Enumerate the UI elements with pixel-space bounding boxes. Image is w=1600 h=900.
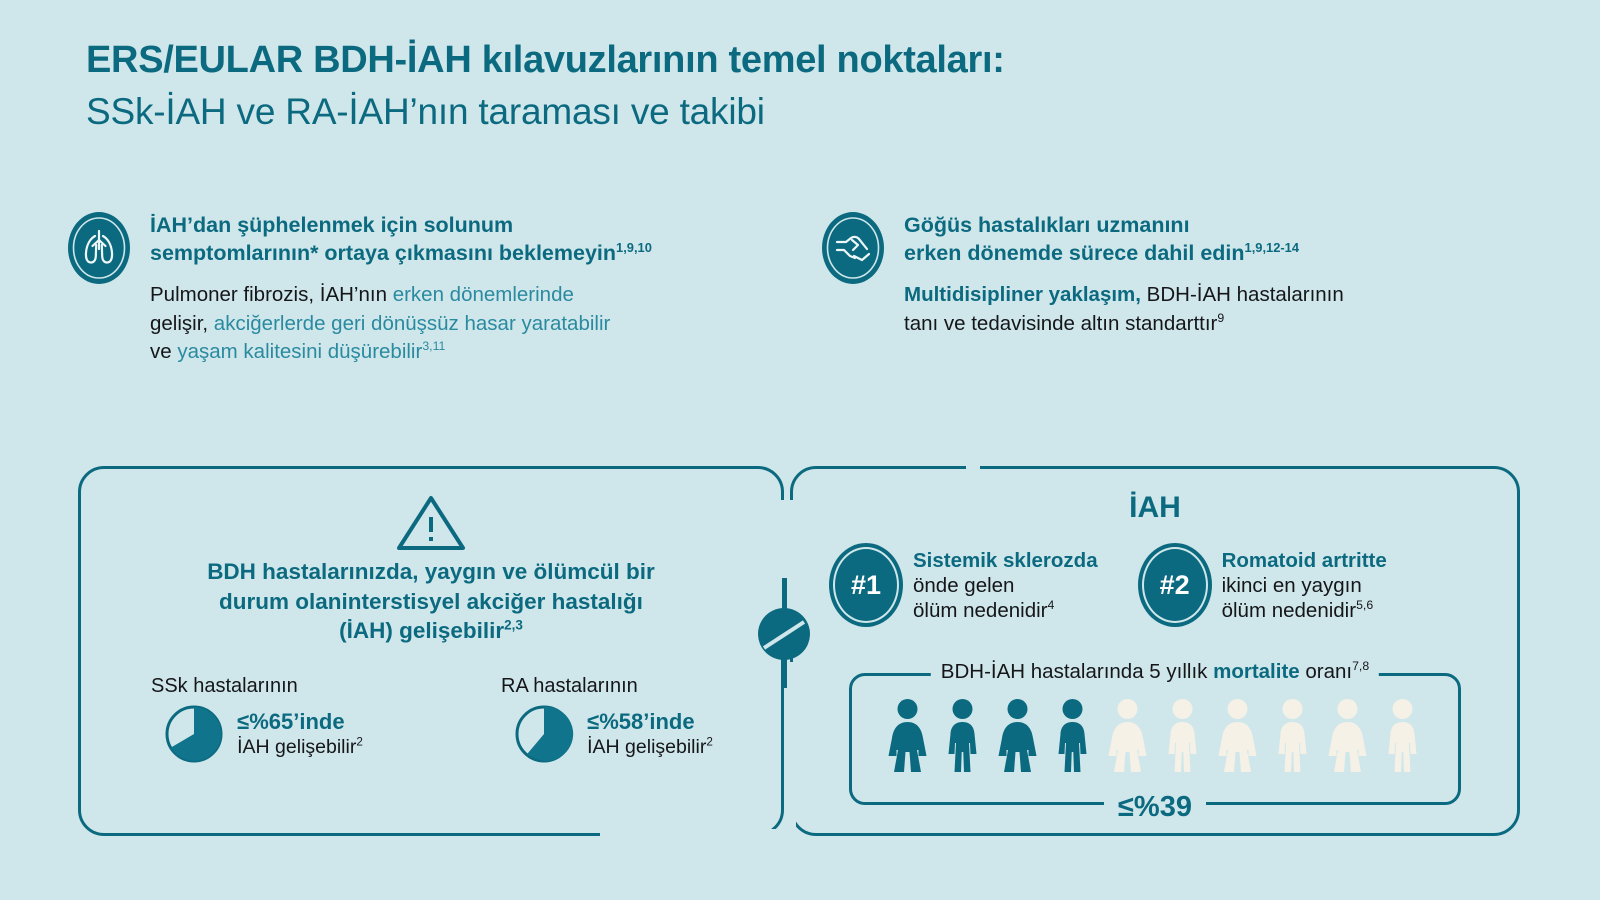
infographic-canvas: ERS/EULAR BDH-İAH kılavuzlarının temel n… xyxy=(0,0,1600,900)
pie-sub-text: İAH gelişebilir xyxy=(237,736,356,758)
rank-refs: 4 xyxy=(1047,598,1054,612)
pie-chart-ra: RA hastalarının ≤%58’inde İAH gelişebili… xyxy=(431,675,781,765)
rank-refs: 5,6 xyxy=(1356,598,1373,612)
warning-triangle-icon xyxy=(394,491,468,560)
rank-line-3-text: ölüm nedenidir xyxy=(1222,599,1356,622)
info-body-part-4: akciğerlerde geri dönüşsüz hasar yaratab… xyxy=(208,312,610,335)
headline-line-2: durum olaninterstisyel akciğer hastalığı xyxy=(219,589,643,614)
info-heading-line-2: erken dönemde sürece dahil edin xyxy=(904,241,1245,265)
title-line-1: ERS/EULAR BDH-İAH kılavuzlarının temel n… xyxy=(86,38,1005,83)
connector-slash-icon xyxy=(758,608,810,660)
info-body-refs: 3,11 xyxy=(422,339,445,353)
rank-line-2: önde gelen xyxy=(913,573,1098,598)
info-block-specialist: Göğüs hastalıkları uzmanını erken dönemd… xyxy=(822,212,1462,338)
info-body-part-3: tanı ve tedavisinde altın standarttır xyxy=(904,312,1217,335)
rank-line-2: ikinci en yaygın xyxy=(1222,573,1387,598)
person-male-icon xyxy=(1050,698,1096,774)
pie-percent-label: ≤%65’inde xyxy=(237,709,363,736)
info-body-part-1: Pulmoner fibrozis, İAH’nın xyxy=(150,283,393,306)
title-line-2: SSk-İAH ve RA-İAH’nın taraması ve takibi xyxy=(86,89,1005,135)
person-male-icon xyxy=(940,698,986,774)
rank-badge: #2 xyxy=(1142,547,1208,623)
info-heading-refs: 1,9,12-14 xyxy=(1245,240,1299,255)
info-body-part-1: Multidisipliner yaklaşım, xyxy=(904,283,1141,306)
info-body: Pulmoner fibrozis, İAH’nın erken dönemle… xyxy=(150,281,808,367)
lungs-icon xyxy=(68,212,130,284)
pie-sub-refs: 2 xyxy=(356,735,363,748)
rank-line-3: ölüm nedenidir4 xyxy=(913,598,1098,623)
headline-line-3: (İAH) gelişebilir xyxy=(339,618,504,643)
mortality-box: BDH-İAH hastalarında 5 yıllık mortalite … xyxy=(849,673,1461,805)
pie-chart-ssk: SSk hastalarının ≤%65’inde İAH gelişebil… xyxy=(81,675,431,765)
pictogram-people xyxy=(885,698,1426,774)
rank-item-2: #2 Romatoid artritte ikinci en yaygın öl… xyxy=(1142,547,1387,623)
person-female-icon xyxy=(1325,698,1371,774)
border-gap-right-lower xyxy=(786,662,796,834)
mortality-label: BDH-İAH hastalarında 5 yıllık mortalite … xyxy=(931,660,1379,684)
rank-line-1: Romatoid artritte xyxy=(1222,548,1387,573)
pie-sub-label: İAH gelişebilir2 xyxy=(237,736,363,760)
mortality-label-highlight: mortalite xyxy=(1213,660,1300,683)
pie-chart-group: SSk hastalarının ≤%65’inde İAH gelişebil… xyxy=(81,675,781,765)
rank-item-1: #1 Sistemik sklerozda önde gelen ölüm ne… xyxy=(833,547,1098,623)
handshake-icon xyxy=(822,212,884,284)
border-gap-right-top xyxy=(966,461,980,471)
rank-line-1: Sistemik sklerozda xyxy=(913,548,1098,573)
info-body-refs: 9 xyxy=(1217,311,1224,325)
info-block-symptoms: İAH’dan şüphelenmek için solunum semptom… xyxy=(68,212,808,367)
info-heading: İAH’dan şüphelenmek için solunum semptom… xyxy=(150,212,808,268)
info-heading-line-2: semptomlarının* ortaya çıkmasını bekleme… xyxy=(150,241,616,265)
pie-sub-refs: 2 xyxy=(706,735,713,748)
mortality-label-part-1: BDH-İAH hastalarında 5 yıllık xyxy=(941,660,1213,683)
info-body-part-5: ve xyxy=(150,340,177,363)
person-male-icon xyxy=(1160,698,1206,774)
pie-caption: SSk hastalarının xyxy=(151,675,298,698)
info-body-part-2: erken dönemlerinde xyxy=(393,283,574,306)
person-female-icon xyxy=(995,698,1041,774)
info-body-part-3: gelişir, xyxy=(150,312,208,335)
right-panel-title: İAH xyxy=(793,491,1517,525)
border-gap-left-bottom xyxy=(600,829,782,839)
info-body: Multidisipliner yaklaşım, BDH-İAH hastal… xyxy=(904,281,1462,338)
pie-sub-label: İAH gelişebilir2 xyxy=(587,736,713,760)
mortality-value: ≤%39 xyxy=(1104,791,1206,824)
mortality-label-part-2: oranı xyxy=(1300,660,1352,683)
headline-refs: 2,3 xyxy=(504,618,523,633)
rank-badge: #1 xyxy=(833,547,899,623)
rank-line-3-text: ölüm nedenidir xyxy=(913,599,1047,622)
person-male-icon xyxy=(1380,698,1426,774)
headline-line-1: BDH hastalarınızda, yaygın ve ölümcül bi… xyxy=(207,559,655,584)
rank-list: #1 Sistemik sklerozda önde gelen ölüm ne… xyxy=(833,547,1387,623)
info-heading-line-1: İAH’dan şüphelenmek için solunum xyxy=(150,213,513,237)
left-panel-headline: BDH hastalarınızda, yaygın ve ölümcül bi… xyxy=(151,557,711,646)
mortality-label-refs: 7,8 xyxy=(1352,659,1369,673)
pie-caption: RA hastalarının xyxy=(501,675,638,698)
panel-ild-risk: BDH hastalarınızda, yaygın ve ölümcül bi… xyxy=(78,466,784,836)
info-body-part-2: BDH-İAH hastalarının xyxy=(1141,283,1344,306)
pie-sub-text: İAH gelişebilir xyxy=(587,736,706,758)
person-female-icon xyxy=(885,698,931,774)
pie-percent-label: ≤%58’inde xyxy=(587,709,713,736)
info-heading-line-1: Göğüs hastalıkları uzmanını xyxy=(904,213,1190,237)
rank-line-3: ölüm nedenidir5,6 xyxy=(1222,598,1387,623)
panel-ild-mortality: İAH #1 Sistemik sklerozda önde gelen ölü… xyxy=(790,466,1520,836)
pie-chart-icon xyxy=(163,703,225,765)
info-body-part-6: yaşam kalitesini düşürebilir xyxy=(177,340,422,363)
pie-chart-icon xyxy=(513,703,575,765)
person-male-icon xyxy=(1270,698,1316,774)
info-heading-refs: 1,9,10 xyxy=(616,240,652,255)
person-female-icon xyxy=(1215,698,1261,774)
page-title: ERS/EULAR BDH-İAH kılavuzlarının temel n… xyxy=(86,38,1005,135)
info-heading: Göğüs hastalıkları uzmanını erken dönemd… xyxy=(904,212,1462,268)
person-female-icon xyxy=(1105,698,1151,774)
